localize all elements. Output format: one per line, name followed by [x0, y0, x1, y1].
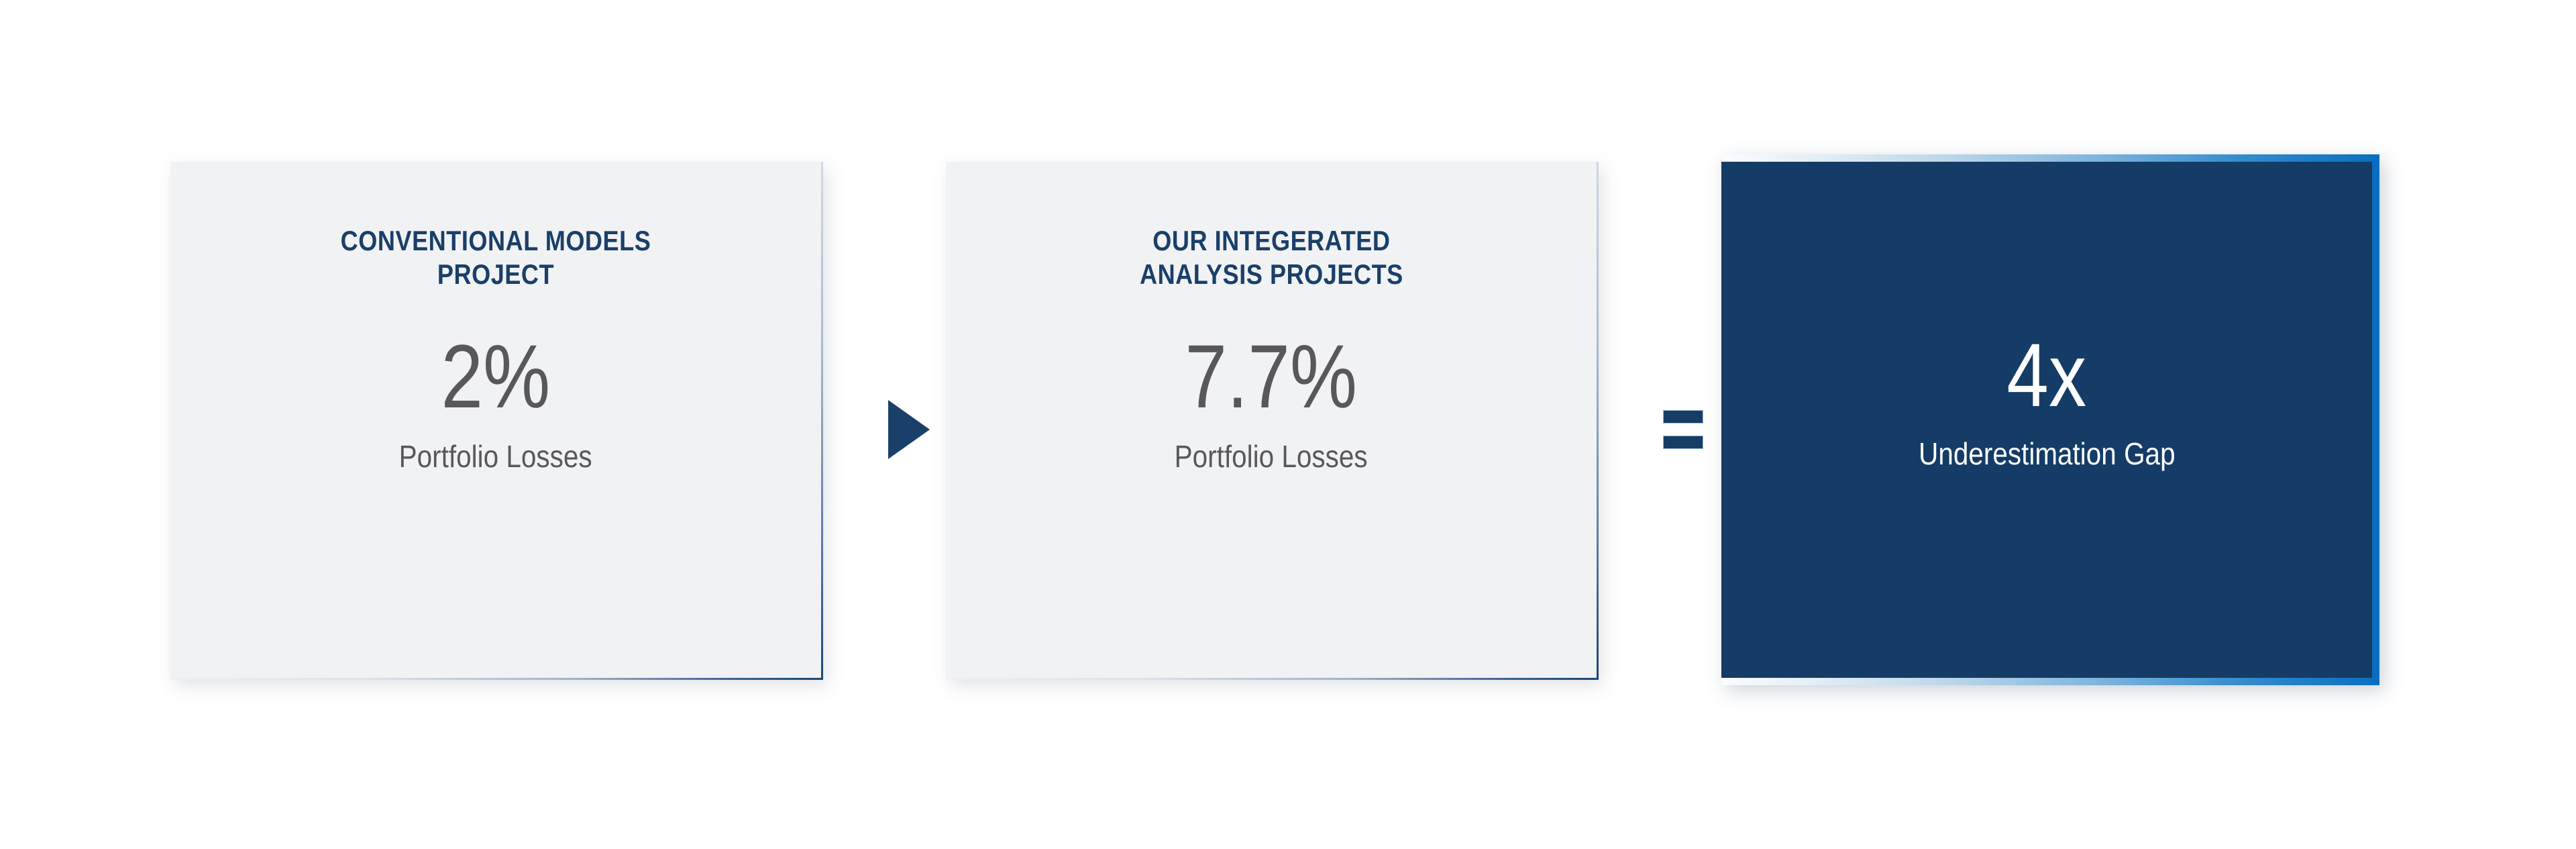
card-stat-integrated-analysis: 7.7% [1185, 332, 1358, 422]
card-underestimation-gap: 4x Underestimation Gap [1721, 162, 2372, 678]
card-heading-conventional-models: CONVENTIONAL MODELS PROJECT [341, 224, 651, 291]
card-edge-top-glow [1721, 154, 2379, 162]
card-caption-integrated-analysis: Portfolio Losses [1175, 441, 1368, 472]
card-conventional-models: CONVENTIONAL MODELS PROJECT 2% Portfolio… [170, 162, 821, 678]
triangle-right-icon [888, 400, 930, 459]
card-content: OUR INTEGERATED ANALYSIS PROJECTS 7.7% P… [946, 162, 1597, 678]
card-caption-conventional-models: Portfolio Losses [399, 441, 592, 472]
card-stat-conventional-models: 2% [441, 332, 551, 422]
card-stat-underestimation-gap: 4x [2007, 331, 2087, 421]
connector-arrow [872, 393, 946, 466]
equals-icon-bar-bottom [1663, 436, 1703, 449]
infographic-canvas: CONVENTIONAL MODELS PROJECT 2% Portfolio… [0, 0, 2576, 849]
card-caption-underestimation-gap: Underestimation Gap [1919, 438, 2176, 469]
card-integrated-analysis: OUR INTEGERATED ANALYSIS PROJECTS 7.7% P… [946, 162, 1597, 678]
connector-equals [1645, 389, 1721, 470]
card-content: CONVENTIONAL MODELS PROJECT 2% Portfolio… [170, 162, 821, 678]
equals-icon-bar-top [1663, 410, 1703, 423]
card-heading-integrated-analysis: OUR INTEGERATED ANALYSIS PROJECTS [1140, 224, 1403, 291]
card-edge-bottom-glow [1721, 678, 2379, 685]
card-content: 4x Underestimation Gap [1721, 162, 2372, 678]
card-edge-right-accent [2372, 154, 2379, 685]
